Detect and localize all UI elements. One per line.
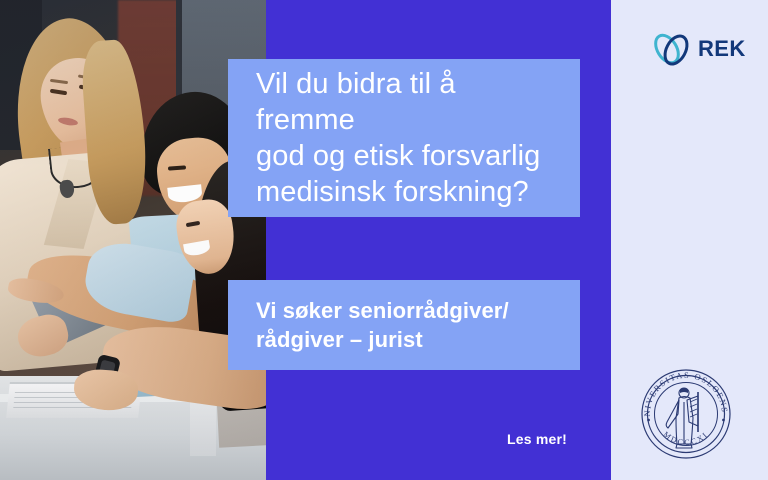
rek-interlocking-rings-icon: [650, 29, 694, 69]
headline-line-1: Vil du bidra til å fremme: [256, 66, 552, 138]
job-title-line-1: Vi søker seniorrådgiver/: [256, 296, 552, 325]
rek-logo[interactable]: REK: [650, 28, 736, 70]
recruitment-banner: Vil du bidra til å fremme god og etisk f…: [0, 0, 768, 480]
headline-line-2: god og etisk forsvarlig: [256, 138, 552, 174]
read-more-cta[interactable]: Les mer!: [507, 431, 567, 447]
seal-bottom-text: MDCCCXI: [662, 430, 711, 447]
photo-panel: [0, 0, 266, 480]
job-title-line-2: rådgiver – jurist: [256, 325, 552, 354]
uio-seal: UNIVERSITAS OSLOENSIS MDCCCXI: [634, 362, 738, 466]
rek-wordmark: REK: [698, 38, 746, 60]
seal-dot-right: [722, 419, 725, 422]
job-title-box: Vi søker seniorrådgiver/ rådgiver – juri…: [228, 280, 580, 370]
headline-line-3: medisinsk forskning?: [256, 174, 552, 210]
headline-box: Vil du bidra til å fremme god og etisk f…: [228, 59, 580, 217]
seal-dot-left: [647, 419, 650, 422]
